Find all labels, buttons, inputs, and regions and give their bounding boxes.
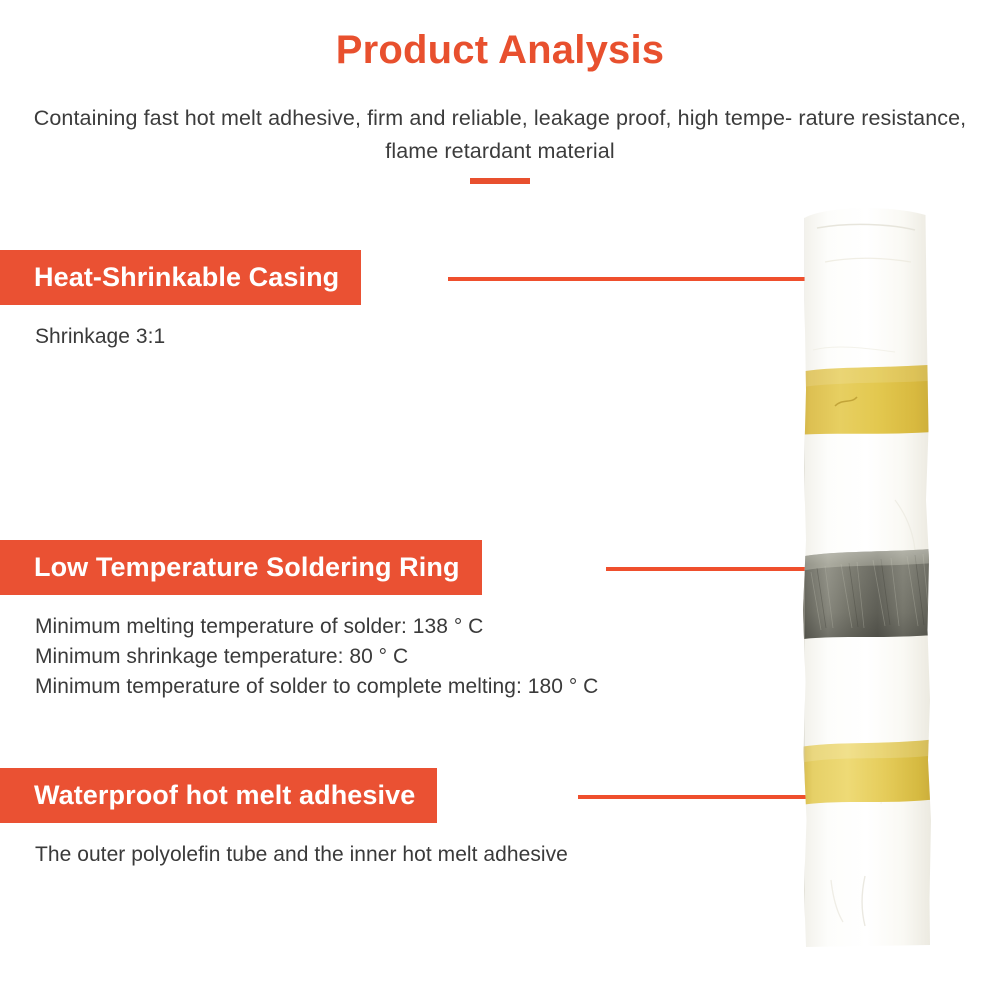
subtitle: Containing fast hot melt adhesive, firm … <box>30 102 970 169</box>
callout-label-waterproof-hot-melt-adhesive[interactable]: Waterproof hot melt adhesive <box>0 768 437 823</box>
low-temperature-solder-ring <box>795 548 945 640</box>
polyolefin-outer-tube <box>795 200 945 955</box>
callout-body-line: Shrinkage 3:1 <box>35 322 361 352</box>
callout-label-low-temperature-soldering-ring[interactable]: Low Temperature Soldering Ring <box>0 540 482 595</box>
callout-low-temperature-soldering-ring: Low Temperature Soldering Ring Minimum m… <box>0 540 598 701</box>
callout-heat-shrinkable-casing: Heat-Shrinkable Casing Shrinkage 3:1 <box>0 250 361 352</box>
callout-body-heat-shrinkable-casing: Shrinkage 3:1 <box>0 322 361 352</box>
title-divider <box>470 178 530 184</box>
callout-waterproof-hot-melt-adhesive: Waterproof hot melt adhesive The outer p… <box>0 768 568 870</box>
product-analysis-infographic: Product Analysis Containing fast hot mel… <box>0 0 1000 1000</box>
lower-hot-melt-adhesive-ring <box>795 738 945 806</box>
callout-body-line: Minimum temperature of solder to complet… <box>35 672 598 702</box>
product-photo-heat-shrink-solder-sleeve <box>795 200 945 955</box>
callout-body-waterproof-hot-melt-adhesive: The outer polyolefin tube and the inner … <box>0 840 568 870</box>
callout-label-heat-shrinkable-casing[interactable]: Heat-Shrinkable Casing <box>0 250 361 305</box>
callout-body-line: The outer polyolefin tube and the inner … <box>35 840 568 870</box>
page-title: Product Analysis <box>0 28 1000 72</box>
callout-body-line: Minimum melting temperature of solder: 1… <box>35 612 598 642</box>
callout-body-line: Minimum shrinkage temperature: 80 ° C <box>35 642 598 672</box>
subtitle-line-1: Containing fast hot melt adhesive, firm … <box>34 106 793 130</box>
upper-hot-melt-adhesive-ring <box>795 364 945 435</box>
leader-line-heat-shrinkable-casing <box>448 277 846 281</box>
callout-body-low-temperature-soldering-ring: Minimum melting temperature of solder: 1… <box>0 612 598 701</box>
